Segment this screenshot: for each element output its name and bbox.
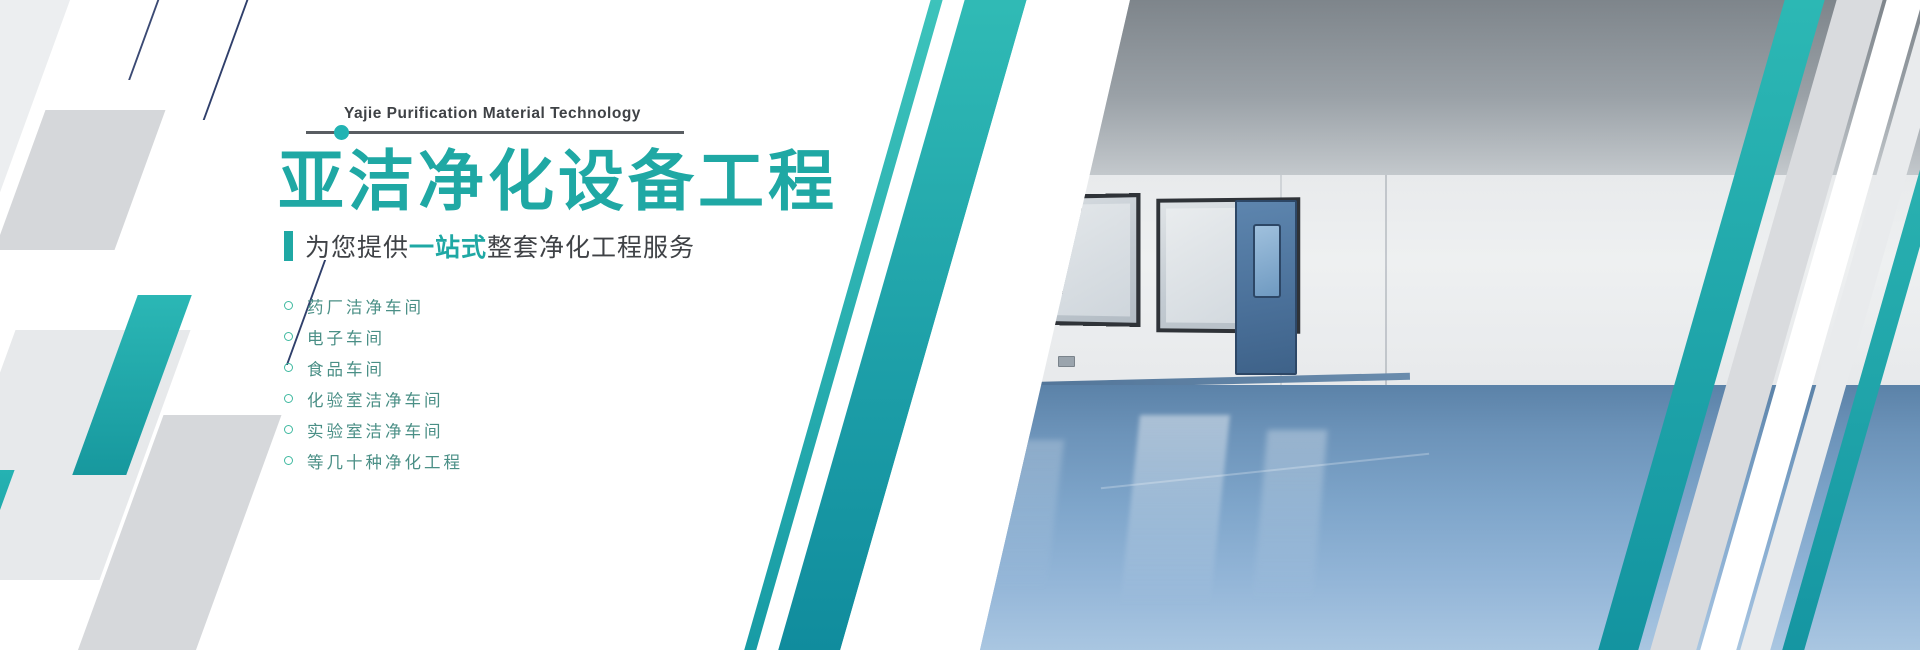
- list-item-label: 食品车间: [307, 356, 385, 380]
- list-item-label: 化验室洁净车间: [307, 387, 444, 411]
- subtitle-highlight: 一站式: [409, 233, 487, 262]
- cleanroom-door: [1235, 200, 1297, 375]
- eyebrow-row: Yajie Purification Material Technology: [306, 105, 696, 129]
- list-item: 食品车间: [284, 352, 463, 383]
- subtitle-accent-bar: [284, 231, 293, 261]
- subtitle-pre: 为您提供: [305, 233, 409, 262]
- door-view-window: [1253, 224, 1281, 298]
- list-item: 化验室洁净车间: [284, 383, 463, 414]
- list-item: 药厂洁净车间: [284, 290, 463, 321]
- gray-diagonal-band-2: [0, 110, 165, 250]
- subtitle-text: 为您提供一站式整套净化工程服务: [305, 228, 695, 264]
- list-item: 实验室洁净车间: [284, 414, 463, 445]
- list-item-label: 药厂洁净车间: [307, 294, 424, 318]
- list-item: 等几十种净化工程: [284, 445, 463, 476]
- bullet-ring-icon: [284, 425, 293, 434]
- navy-hairline-2: [128, 0, 174, 80]
- list-item-label: 电子车间: [307, 325, 385, 349]
- bullet-ring-icon: [284, 456, 293, 465]
- navy-hairline-1: [203, 0, 260, 120]
- list-item-label: 实验室洁净车间: [307, 418, 444, 442]
- page-title: 亚洁净化设备工程: [278, 128, 838, 224]
- subtitle-row: 为您提供一站式整套净化工程服务: [284, 228, 695, 264]
- hero-text-column: Yajie Purification Material Technology 亚…: [278, 0, 918, 650]
- bullet-ring-icon: [284, 301, 293, 310]
- list-item-label: 等几十种净化工程: [307, 449, 463, 473]
- wall-outlet-icon: [1058, 356, 1075, 367]
- service-bullet-list: 药厂洁净车间 电子车间 食品车间 化验室洁净车间 实验室洁净车间 等几十种净化工…: [284, 290, 463, 476]
- subtitle-post: 整套净化工程服务: [487, 233, 695, 262]
- eyebrow-tagline: Yajie Purification Material Technology: [344, 105, 641, 123]
- list-item: 电子车间: [284, 321, 463, 352]
- bullet-ring-icon: [284, 332, 293, 341]
- hero-banner: Yajie Purification Material Technology 亚…: [0, 0, 1920, 650]
- bullet-ring-icon: [284, 394, 293, 403]
- bullet-ring-icon: [284, 363, 293, 372]
